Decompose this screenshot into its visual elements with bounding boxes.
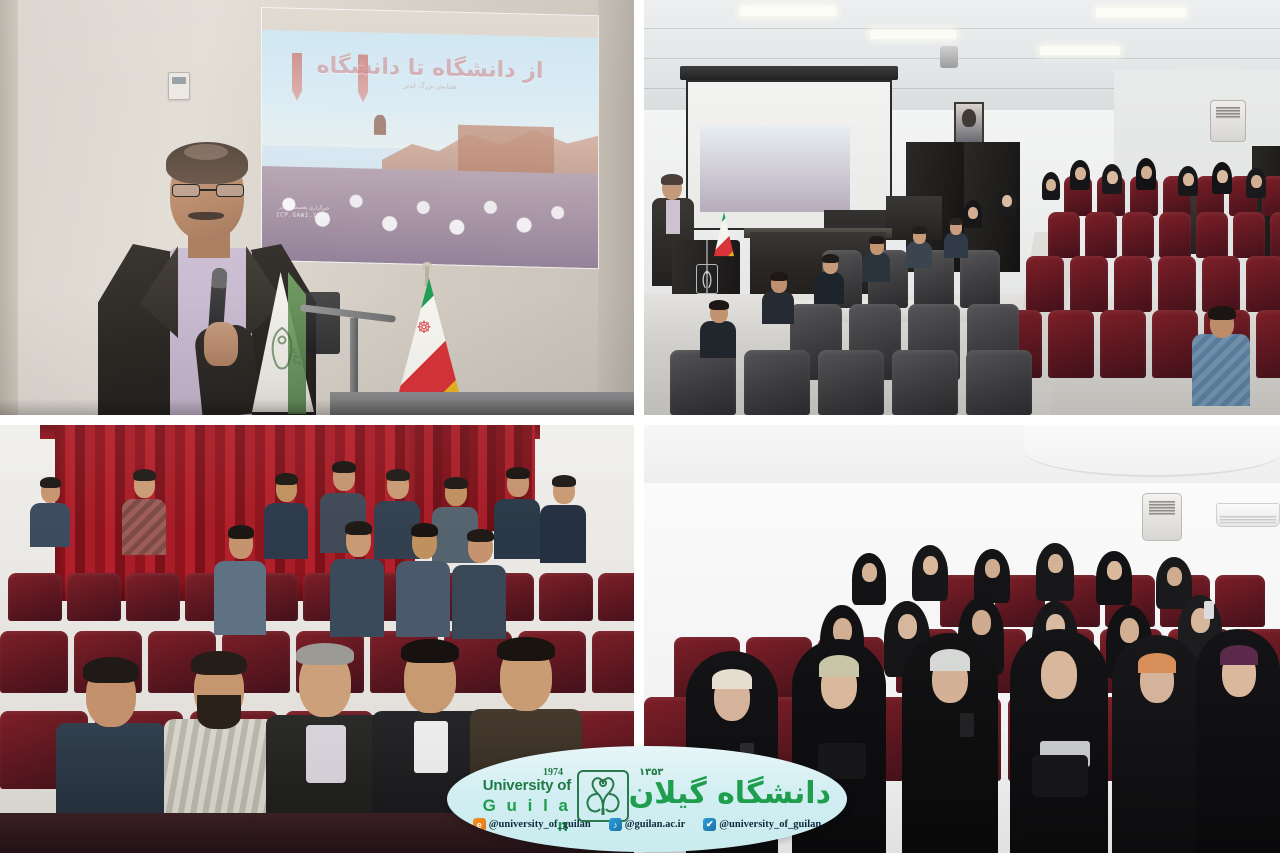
- iran-flag-emblem: ☸: [414, 318, 434, 338]
- audience-person: [330, 521, 384, 637]
- audience-person: [996, 188, 1018, 222]
- auditorium-seat: [1100, 310, 1146, 378]
- audience-person: [396, 523, 450, 637]
- audience-person: [452, 529, 506, 639]
- audience-person: [1134, 158, 1158, 196]
- projected-slide-image: [700, 126, 850, 212]
- glasses-lens-left: [172, 184, 200, 197]
- ceiling-light: [1096, 8, 1186, 17]
- auditorium-seat: [1158, 256, 1196, 312]
- university-name-farsi: دانشگاه گیلان: [637, 764, 837, 826]
- auditorium-seat: [1202, 256, 1240, 312]
- front-row-person: [1196, 629, 1280, 853]
- auditorium-seat: [1256, 310, 1280, 378]
- auditorium-seat: [1196, 212, 1228, 258]
- seat-row-back: [8, 573, 634, 621]
- university-of-guilan-emblem-icon: [575, 768, 631, 824]
- ceiling-grid-line: [644, 28, 1280, 29]
- curved-ceiling-soffit: [1024, 425, 1280, 477]
- wall-mounted-speaker: [1142, 493, 1182, 541]
- bale-icon: ♪: [609, 818, 622, 831]
- university-logo-banner: 1974 ۱۳۵۳ University of G u i l a n دانش…: [447, 746, 847, 852]
- eitaa-icon: e: [473, 818, 486, 831]
- ceiling-light: [870, 30, 956, 39]
- auditorium-seat: [966, 350, 1032, 415]
- split-air-conditioner: [1216, 503, 1280, 527]
- auditorium-seat: [1048, 212, 1080, 258]
- front-row-person: [1112, 635, 1202, 853]
- seat-row-mid-right: [1048, 212, 1280, 258]
- audience-person: [700, 300, 736, 358]
- floor-shadow: [0, 399, 634, 415]
- auditorium-seat: [1026, 256, 1064, 312]
- auditorium-seat: [598, 573, 634, 621]
- glasses-bridge: [200, 189, 216, 191]
- audience-person: [912, 545, 948, 607]
- wall-thermostat: [168, 72, 190, 100]
- audience-person: [1040, 172, 1062, 206]
- pennant-text: گیلان: [292, 348, 301, 365]
- audience-person: [214, 525, 266, 635]
- speaker-glasses: [172, 184, 244, 197]
- framed-portrait: [954, 102, 984, 144]
- social-handles-row: e @university_of_guilan ♪ @guilan.ac.ir …: [447, 818, 847, 831]
- social-twitter[interactable]: ✔ @university_of_guilan: [703, 818, 821, 831]
- podium-speaker-hair: [661, 174, 683, 185]
- university-name-line1: University of: [475, 778, 571, 794]
- auditorium-seat: [1070, 256, 1108, 312]
- audience-person: [1100, 164, 1124, 200]
- audience-person: [862, 236, 890, 282]
- ceiling-light: [1040, 46, 1120, 55]
- audience-person: [1244, 168, 1268, 204]
- audience-person: [264, 473, 308, 559]
- auditorium-seat: [818, 350, 884, 415]
- audience-person: [1068, 160, 1092, 196]
- audience-person: [540, 475, 586, 563]
- front-row-person: [902, 633, 998, 853]
- audience-person: [852, 553, 886, 611]
- audience-person: [762, 272, 794, 324]
- front-row-person: [1010, 629, 1108, 853]
- audience-person: [1210, 162, 1234, 200]
- auditorium-seat: [1085, 212, 1117, 258]
- auditorium-seat: [1048, 310, 1094, 378]
- auditorium-seat: [744, 350, 810, 415]
- audience-person: [1176, 166, 1200, 202]
- auditorium-seat: [1122, 212, 1154, 258]
- speaker-hand: [204, 322, 238, 366]
- audience-person-foreground: [1192, 306, 1250, 406]
- twitter-handle: @university_of_guilan: [719, 819, 821, 830]
- photo-collage: از دانشگاه تا دانشگاه همایش بزرگ غدیر خب…: [0, 0, 1280, 853]
- audience-person: [30, 477, 70, 547]
- social-bale[interactable]: ♪ @guilan.ac.ir: [609, 818, 686, 831]
- glasses-lens-right: [216, 184, 244, 197]
- auditorium-seat: [8, 573, 62, 621]
- seat-row-lower-right: [1026, 256, 1280, 312]
- ceiling-projector: [940, 46, 958, 68]
- auditorium-seat: [67, 573, 121, 621]
- seat-row-nearest: [670, 350, 1032, 415]
- auditorium-seat: [539, 573, 593, 621]
- twitter-icon: ✔: [703, 818, 716, 831]
- auditorium-seat: [1159, 212, 1191, 258]
- wall-mounted-speaker: [1210, 100, 1246, 142]
- roll-down-projection-screen: [686, 80, 892, 230]
- wall-edge-left: [0, 0, 18, 415]
- auditorium-seat: [960, 250, 1000, 308]
- auditorium-seat: [1246, 256, 1280, 312]
- audience-person: [1036, 543, 1074, 607]
- social-eitaa[interactable]: e @university_of_guilan: [473, 818, 591, 831]
- speaker-hair: [166, 142, 248, 184]
- ceiling-light: [740, 6, 836, 16]
- speaker-moustache: [188, 212, 224, 220]
- auditorium-seat: [1270, 212, 1280, 258]
- auditorium-seat: [892, 350, 958, 415]
- audience-person: [906, 226, 932, 268]
- auditorium-seat: [1114, 256, 1152, 312]
- audience-person: [944, 218, 968, 258]
- auditorium-seat: [126, 573, 180, 621]
- audience-person: [1096, 551, 1132, 611]
- lecture-hall-wide-scene: [644, 0, 1280, 415]
- podium-university-logo-icon: [696, 264, 718, 294]
- ceiling-grid-line: [644, 58, 1280, 59]
- photo-top-left[interactable]: از دانشگاه تا دانشگاه همایش بزرگ غدیر خب…: [0, 0, 634, 415]
- auditorium-seat: [1233, 212, 1265, 258]
- auditorium-seat: [592, 631, 634, 693]
- auditorium-seat: [1215, 575, 1265, 627]
- audience-person: [814, 254, 844, 304]
- lecture-speaker-scene: از دانشگاه تا دانشگاه همایش بزرگ غدیر خب…: [0, 0, 634, 415]
- eitaa-handle: @university_of_guilan: [489, 819, 591, 830]
- podium-speaker-shirt: [666, 200, 680, 234]
- audience-person: [122, 469, 166, 555]
- banner-primary-row: 1974 ۱۳۵۳ University of G u i l a n دانش…: [447, 754, 847, 816]
- projection-screen-roller: [680, 66, 898, 80]
- slide-standing-figure: [374, 115, 386, 135]
- equipment-bag: [300, 292, 340, 354]
- wall-edge-right: [598, 0, 634, 415]
- auditorium-seat: [670, 350, 736, 415]
- photo-top-right[interactable]: [644, 0, 1280, 415]
- bale-handle: @guilan.ac.ir: [625, 819, 686, 830]
